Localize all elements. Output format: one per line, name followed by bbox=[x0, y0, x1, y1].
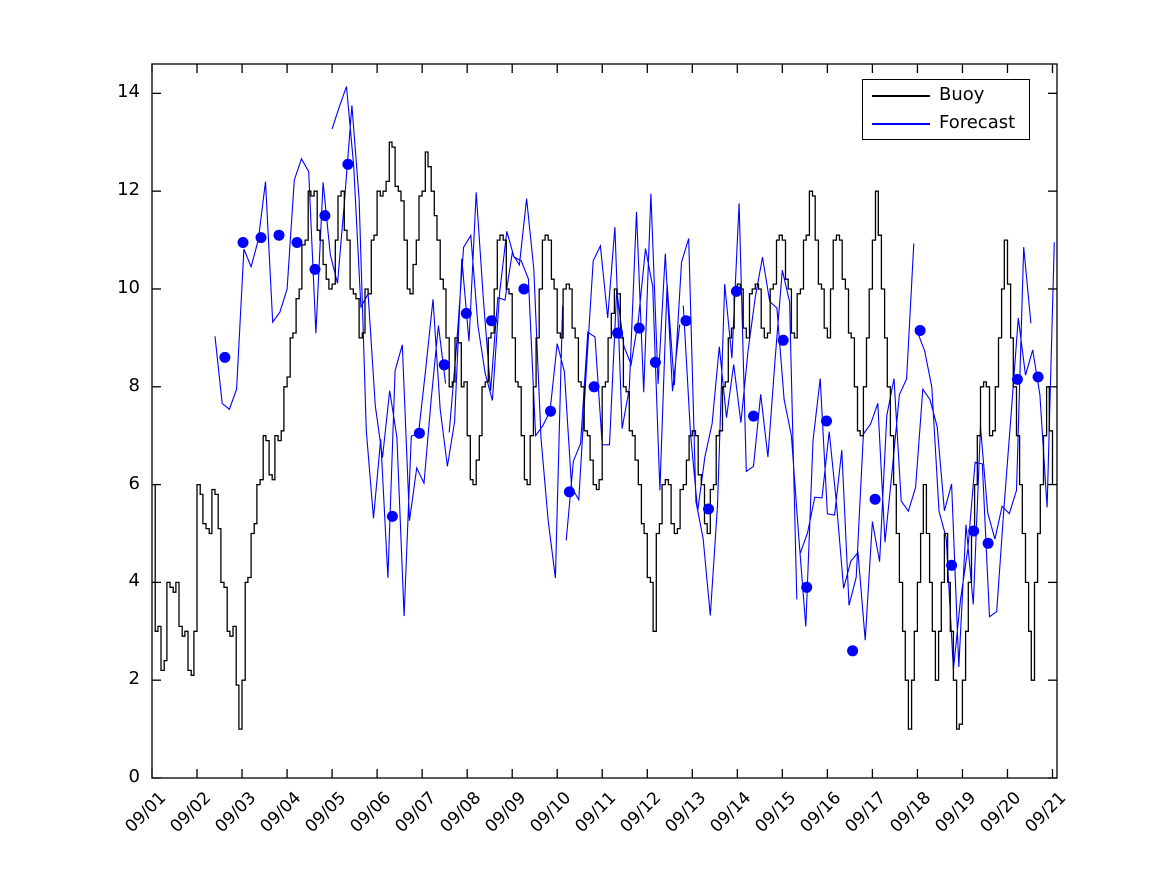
data-point-marker bbox=[778, 335, 789, 346]
data-point-marker bbox=[564, 486, 575, 497]
data-point-marker bbox=[748, 411, 759, 422]
legend-item-forecast[interactable]: Forecast bbox=[863, 110, 1031, 138]
legend-item-buoy[interactable]: Buoy bbox=[863, 82, 1031, 110]
data-point-marker bbox=[915, 325, 926, 336]
data-point-marker bbox=[342, 159, 353, 170]
data-point-marker bbox=[731, 286, 742, 297]
data-point-marker bbox=[968, 526, 979, 537]
data-point-marker bbox=[518, 284, 529, 295]
y-tick-label: 8 bbox=[100, 375, 140, 396]
y-tick-label: 0 bbox=[100, 766, 140, 787]
y-tick-label: 4 bbox=[100, 570, 140, 591]
y-tick-label: 12 bbox=[100, 179, 140, 200]
data-point-marker bbox=[387, 511, 398, 522]
data-point-marker bbox=[486, 315, 497, 326]
y-tick-label: 14 bbox=[100, 81, 140, 102]
data-point-marker bbox=[634, 323, 645, 334]
data-point-marker bbox=[256, 232, 267, 243]
data-point-marker bbox=[801, 582, 812, 593]
legend-swatch-buoy bbox=[872, 95, 930, 97]
y-tick-label: 6 bbox=[100, 473, 140, 494]
data-point-marker bbox=[310, 264, 321, 275]
data-point-marker bbox=[946, 560, 957, 571]
legend-label-forecast: Forecast bbox=[939, 112, 1015, 133]
data-point-marker bbox=[319, 210, 330, 221]
data-point-marker bbox=[703, 504, 714, 515]
data-point-marker bbox=[650, 357, 661, 368]
data-point-marker bbox=[414, 428, 425, 439]
legend[interactable]: Buoy Forecast bbox=[862, 79, 1030, 140]
data-point-marker bbox=[219, 352, 230, 363]
data-point-marker bbox=[612, 328, 623, 339]
data-point-marker bbox=[821, 416, 832, 427]
y-tick-label: 10 bbox=[100, 277, 140, 298]
legend-swatch-forecast bbox=[872, 123, 930, 125]
data-point-marker bbox=[238, 237, 249, 248]
data-point-marker bbox=[983, 538, 994, 549]
data-point-marker bbox=[292, 237, 303, 248]
data-point-marker bbox=[461, 308, 472, 319]
legend-label-buoy: Buoy bbox=[939, 84, 984, 105]
figure-canvas: NDBC 46054 vs GFS Winds: 3 to 5 day fore… bbox=[0, 0, 1167, 875]
data-point-marker bbox=[681, 315, 692, 326]
data-point-marker bbox=[545, 406, 556, 417]
data-point-marker bbox=[439, 359, 450, 370]
y-tick-label: 2 bbox=[100, 668, 140, 689]
data-point-marker bbox=[870, 494, 881, 505]
data-point-marker bbox=[847, 645, 858, 656]
data-point-marker bbox=[1012, 374, 1023, 385]
data-point-marker bbox=[1033, 372, 1044, 383]
data-point-marker bbox=[589, 381, 600, 392]
data-point-marker bbox=[274, 230, 285, 241]
